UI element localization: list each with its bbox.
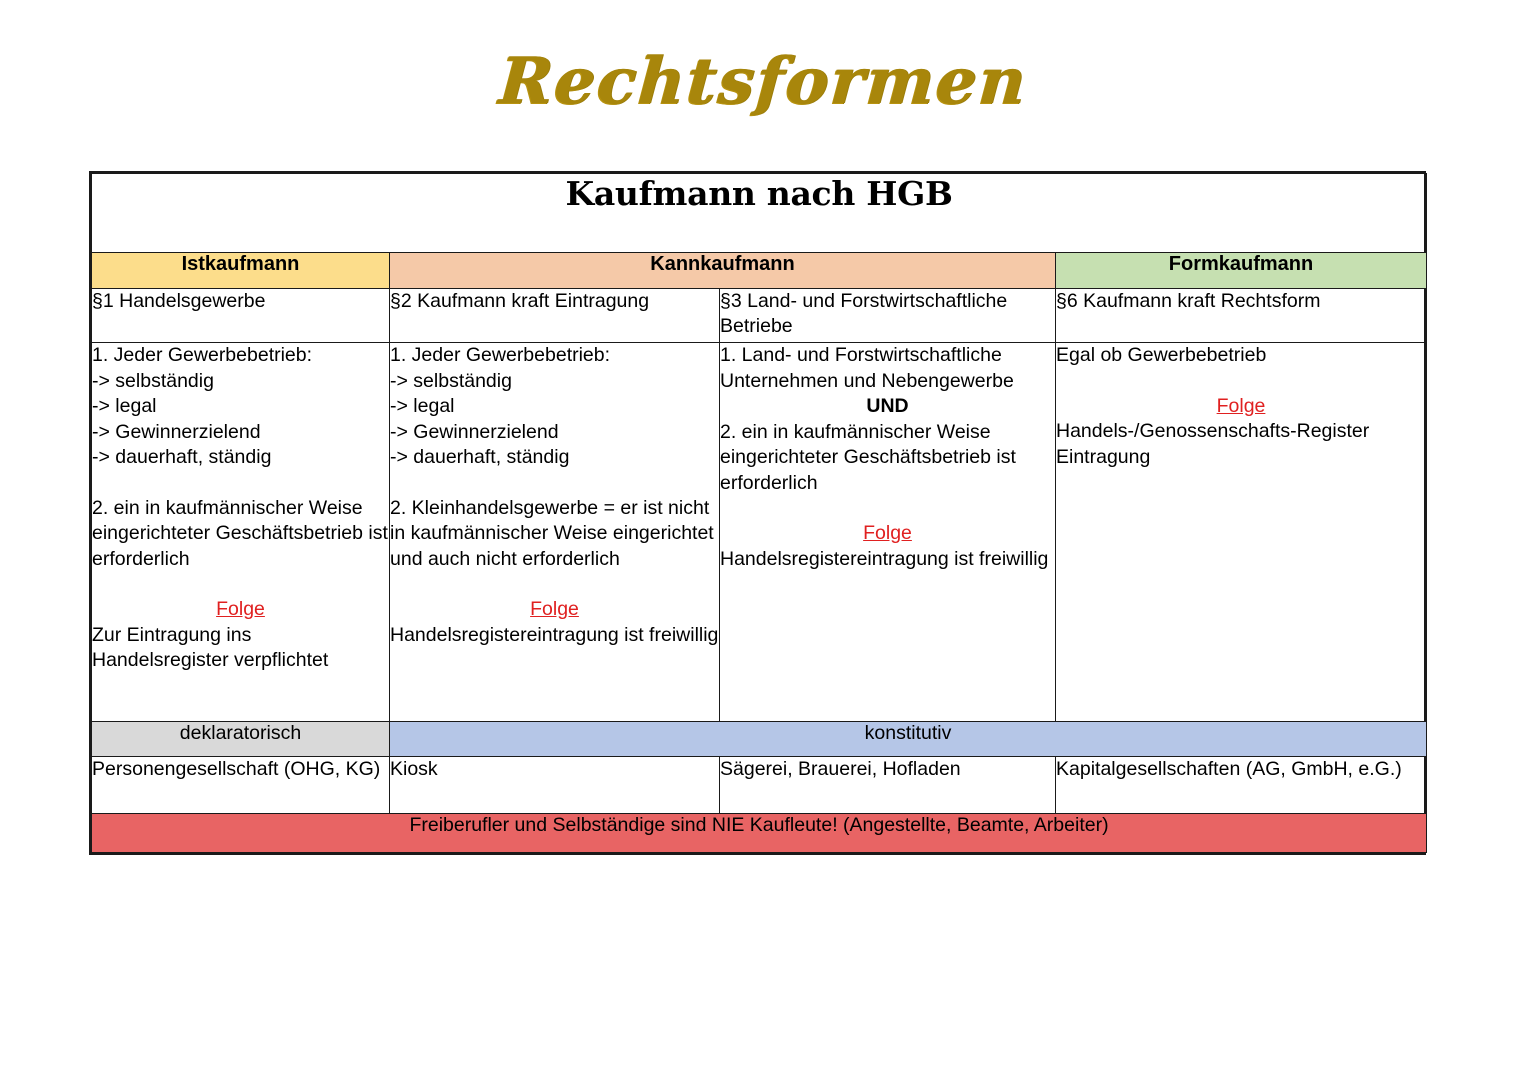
warning-banner: Freiberufler und Selbständige sind NIE K… xyxy=(92,814,1427,853)
kaufmann-table-container: Kaufmann nach HGB Istkaufmann Kannkaufma… xyxy=(89,171,1426,855)
warning-row: Freiberufler und Selbständige sind NIE K… xyxy=(92,814,1427,853)
point2-text: 2. ein in kaufmännischer Weise eingerich… xyxy=(92,496,389,573)
point1-item-1: -> selbständig xyxy=(92,369,389,395)
point1-heading: 1. Jeder Gewerbebetrieb: xyxy=(92,343,389,369)
intro-text: Egal ob Gewerbebetrieb xyxy=(1056,343,1426,369)
point1-item-4: -> dauerhaft, ständig xyxy=(390,445,719,471)
page-title: Rechtsformen xyxy=(0,44,1527,119)
category-header-row: Istkaufmann Kannkaufmann Formkaufmann xyxy=(92,253,1427,289)
category-header-istkaufmann: Istkaufmann xyxy=(92,253,390,289)
body-cell-kannkaufmann-land: 1. Land- und Forstwirtschaftliche Untern… xyxy=(720,343,1056,722)
category-header-formkaufmann: Formkaufmann xyxy=(1056,253,1427,289)
point2-text: 2. Kleinhandelsgewerbe = er ist nicht in… xyxy=(390,496,719,573)
example-cell-3: Sägerei, Brauerei, Hofladen xyxy=(720,757,1056,814)
point1-item-3: -> Gewinnerzielend xyxy=(390,420,719,446)
folge-text: Handels-/Genossenschafts-Register Eintra… xyxy=(1056,419,1426,470)
paragraph-cell-3: §3 Land- und Forstwirtschaftliche Betrie… xyxy=(720,289,1056,343)
paragraph-row: §1 Handelsgewerbe §2 Kaufmann kraft Eint… xyxy=(92,289,1427,343)
spacer xyxy=(720,496,1055,521)
spacer xyxy=(390,572,719,597)
spacer xyxy=(1056,369,1426,394)
point1-item-1: -> selbständig xyxy=(390,369,719,395)
table-heading-row: Kaufmann nach HGB xyxy=(92,174,1427,253)
point1-item-2: -> legal xyxy=(390,394,719,420)
point1-item-2: -> legal xyxy=(92,394,389,420)
effect-konstitutiv: konstitutiv xyxy=(390,722,1427,757)
folge-label: Folge xyxy=(92,597,389,623)
spacer xyxy=(92,471,389,496)
point1-text: 1. Land- und Forstwirtschaftliche Untern… xyxy=(720,343,1055,394)
spacer xyxy=(390,471,719,496)
paragraph-cell-2: §2 Kaufmann kraft Eintragung xyxy=(390,289,720,343)
folge-label: Folge xyxy=(390,597,719,623)
point1-item-3: -> Gewinnerzielend xyxy=(92,420,389,446)
spacer xyxy=(92,572,389,597)
effect-deklaratorisch: deklaratorisch xyxy=(92,722,390,757)
conjunction-und: UND xyxy=(720,394,1055,420)
body-cell-kannkaufmann-eintragung: 1. Jeder Gewerbebetrieb: -> selbständig … xyxy=(390,343,720,722)
body-cell-formkaufmann: Egal ob Gewerbebetrieb Folge Handels-/Ge… xyxy=(1056,343,1427,722)
paragraph-cell-1: §1 Handelsgewerbe xyxy=(92,289,390,343)
folge-label: Folge xyxy=(1056,394,1426,420)
example-cell-4: Kapitalgesellschaften (AG, GmbH, e.G.) xyxy=(1056,757,1427,814)
folge-text: Handelsregistereintragung ist freiwillig xyxy=(390,623,719,649)
folge-text: Zur Eintragung ins Handelsregister verpf… xyxy=(92,623,389,674)
examples-row: Personengesellschaft (OHG, KG) Kiosk Säg… xyxy=(92,757,1427,814)
point1-item-4: -> dauerhaft, ständig xyxy=(92,445,389,471)
kaufmann-table: Kaufmann nach HGB Istkaufmann Kannkaufma… xyxy=(91,173,1427,853)
paragraph-cell-4: §6 Kaufmann kraft Rechtsform xyxy=(1056,289,1427,343)
folge-label: Folge xyxy=(720,521,1055,547)
body-row: 1. Jeder Gewerbebetrieb: -> selbständig … xyxy=(92,343,1427,722)
table-heading: Kaufmann nach HGB xyxy=(92,174,1427,253)
folge-text: Handelsregistereintragung ist freiwillig xyxy=(720,547,1055,573)
effect-row: deklaratorisch konstitutiv xyxy=(92,722,1427,757)
body-cell-istkaufmann: 1. Jeder Gewerbebetrieb: -> selbständig … xyxy=(92,343,390,722)
point2-text: 2. ein in kaufmännischer Weise eingerich… xyxy=(720,420,1055,497)
example-cell-1: Personengesellschaft (OHG, KG) xyxy=(92,757,390,814)
category-header-kannkaufmann: Kannkaufmann xyxy=(390,253,1056,289)
point1-heading: 1. Jeder Gewerbebetrieb: xyxy=(390,343,719,369)
example-cell-2: Kiosk xyxy=(390,757,720,814)
